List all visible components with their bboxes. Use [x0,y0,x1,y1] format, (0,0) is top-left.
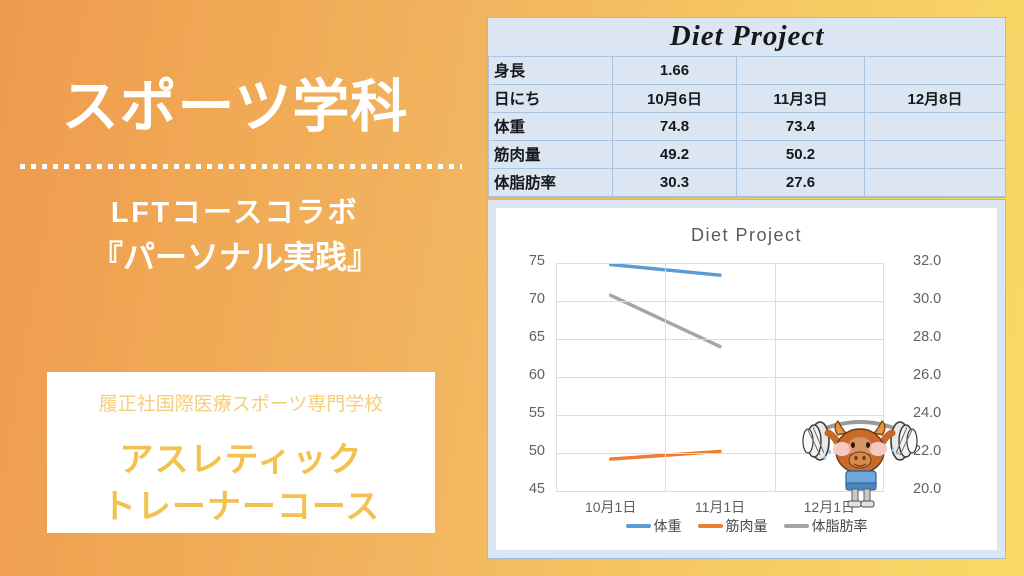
table-cell: 1.66 [613,56,737,84]
table-cell: 12月8日 [865,84,1006,112]
y-axis-tick-label-right: 32.0 [913,253,941,269]
chart-legend-item[interactable]: 筋肉量 [698,516,768,536]
table-cell [865,168,1006,196]
school-info-card: 履正社国際医療スポーツ専門学校 アスレティック トレーナーコース [47,372,435,533]
chart-legend-label: 体脂肪率 [812,516,868,536]
table-cell: 27.6 [737,168,865,196]
page-title: スポーツ学科 [0,78,470,138]
svg-text:≈: ≈ [896,450,900,457]
y-axis-tick-label-left: 70 [529,291,545,307]
collab-subtitle-line-1: LFTコースコラボ [0,189,470,231]
table-cell [865,112,1006,140]
table-cell: 74.8 [613,112,737,140]
collab-subtitle-line-2: 『パーソナル実践』 [0,232,470,278]
chart-legend-swatch [698,524,723,528]
table-row: 筋肉量49.250.2 [489,140,1006,168]
table-cell [865,56,1006,84]
y-axis-tick-label-right: 30.0 [913,291,941,307]
chart-gridline [556,339,884,340]
y-axis-tick-label-left: 60 [529,367,545,383]
table-row: 身長1.66 [489,56,1006,84]
chart-legend-swatch [784,524,809,528]
diet-data-table: Diet Project身長1.66日にち10月6日11月3日12月8日体重74… [488,18,1006,197]
table-cell [865,140,1006,168]
cow-weightlifter-mascot-icon: ≈ [794,403,926,511]
y-axis-tick-label-right: 26.0 [913,367,941,383]
chart-plot-container: Diet Project 4550556065707520.022.024.02… [496,208,997,550]
table-row-label: 筋肉量 [489,140,613,168]
x-axis-tick-label: 11月1日 [695,497,745,517]
chart-title: Diet Project [496,225,997,246]
table-row-label: 日にち [489,84,613,112]
dotted-divider [20,164,462,169]
table-cell: 30.3 [613,168,737,196]
x-axis-tick-separator [665,263,666,491]
chart-legend-swatch [626,524,651,528]
school-name: 履正社国際医療スポーツ専門学校 [47,389,435,416]
table-title: Diet Project [489,18,1006,56]
y-axis-tick-label-left: 55 [529,405,545,421]
table-row: 体脂肪率30.327.6 [489,168,1006,196]
course-name-line-1: アスレティック [47,432,435,481]
chart-gridline [556,377,884,378]
y-axis-tick-label-right: 28.0 [913,329,941,345]
table-row-label: 体重 [489,112,613,140]
table-cell: 11月3日 [737,84,865,112]
y-axis-tick-label-left: 75 [529,253,545,269]
y-axis-tick-label-left: 65 [529,329,545,345]
promo-left-panel: スポーツ学科 LFTコースコラボ 『パーソナル実践』 履正社国際医療スポーツ専門… [0,0,478,576]
y-axis-tick-label-left: 45 [529,481,545,497]
chart-legend-item[interactable]: 体脂肪率 [784,516,868,536]
table-row: 体重74.873.4 [489,112,1006,140]
table-cell: 50.2 [737,140,865,168]
chart-legend: 体重筋肉量体脂肪率 [496,516,997,536]
chart-legend-item[interactable]: 体重 [626,516,682,536]
chart-legend-label: 体重 [654,516,682,536]
table-cell: 49.2 [613,140,737,168]
table-row-label: 体脂肪率 [489,168,613,196]
table-cell: 73.4 [737,112,865,140]
table-row-label: 身長 [489,56,613,84]
chart-legend-label: 筋肉量 [726,516,768,536]
y-axis-tick-label-left: 50 [529,443,545,459]
table-cell [737,56,865,84]
chart-gridline [556,263,884,264]
x-axis-tick-separator [556,263,557,491]
x-axis-tick-separator [775,263,776,491]
table-row: 日にち10月6日11月3日12月8日 [489,84,1006,112]
diet-chart-panel: Diet Project 4550556065707520.022.024.02… [487,199,1006,559]
table-cell: 10月6日 [613,84,737,112]
course-name-line-2: トレーナーコース [47,479,435,528]
x-axis-tick-label: 10月1日 [585,497,636,517]
diet-data-table-panel: Diet Project身長1.66日にち10月6日11月3日12月8日体重74… [487,17,1006,198]
chart-gridline [556,301,884,302]
table-title-row: Diet Project [489,18,1006,56]
